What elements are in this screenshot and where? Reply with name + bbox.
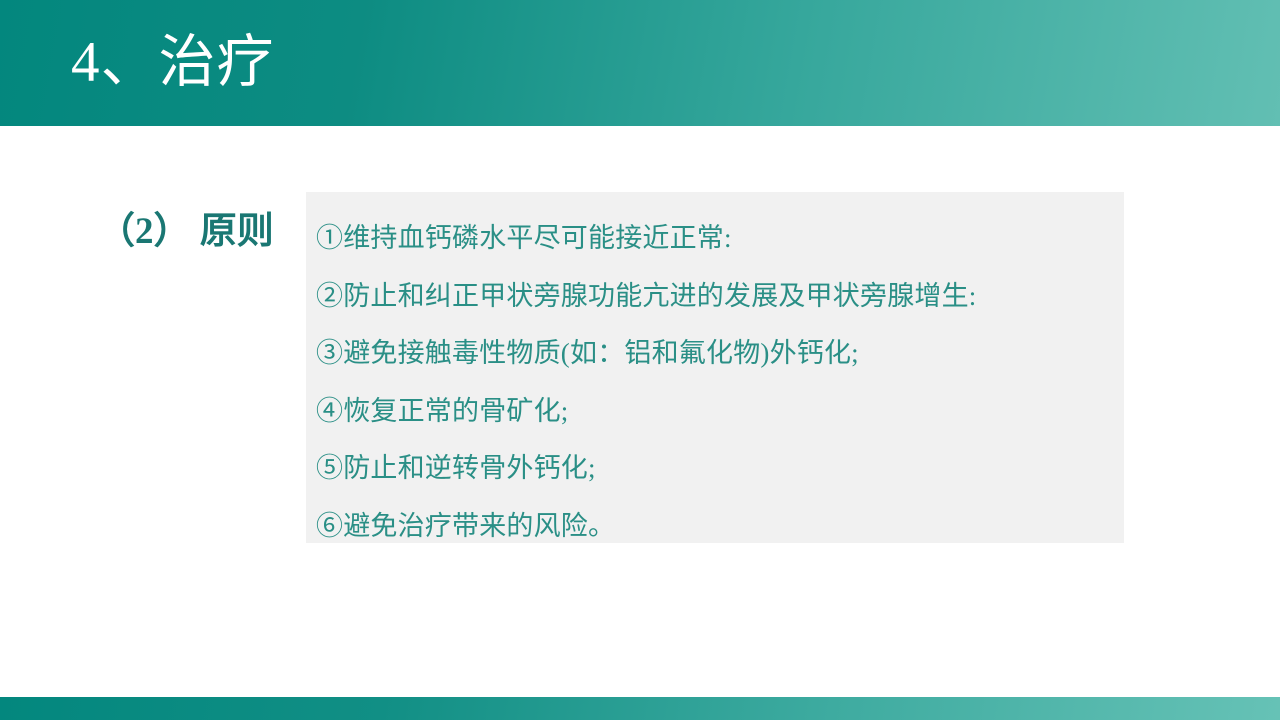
header-band: 4、治疗 [0, 0, 1280, 126]
list-item: ②防止和纠正甲状旁腺功能亢进的发展及甲状旁腺增生: [316, 268, 1124, 326]
content-panel: ①维持血钙磷水平尽可能接近正常: ②防止和纠正甲状旁腺功能亢进的发展及甲状旁腺增… [306, 192, 1124, 543]
footer-band [0, 697, 1280, 720]
list-item: ③避免接触毒性物质(如：铝和氟化物)外钙化; [316, 325, 1124, 383]
list-item: ④恢复正常的骨矿化; [316, 383, 1124, 441]
principles-list: ①维持血钙磷水平尽可能接近正常: ②防止和纠正甲状旁腺功能亢进的发展及甲状旁腺增… [316, 210, 1124, 555]
section-label: （2） 原则 [98, 207, 274, 257]
page-title: 4、治疗 [71, 21, 275, 105]
slide: 4、治疗 （2） 原则 ①维持血钙磷水平尽可能接近正常: ②防止和纠正甲状旁腺功… [0, 0, 1280, 720]
list-item: ⑤防止和逆转骨外钙化; [316, 440, 1124, 498]
list-item: ⑥避免治疗带来的风险。 [316, 498, 1124, 556]
list-item: ①维持血钙磷水平尽可能接近正常: [316, 210, 1124, 268]
